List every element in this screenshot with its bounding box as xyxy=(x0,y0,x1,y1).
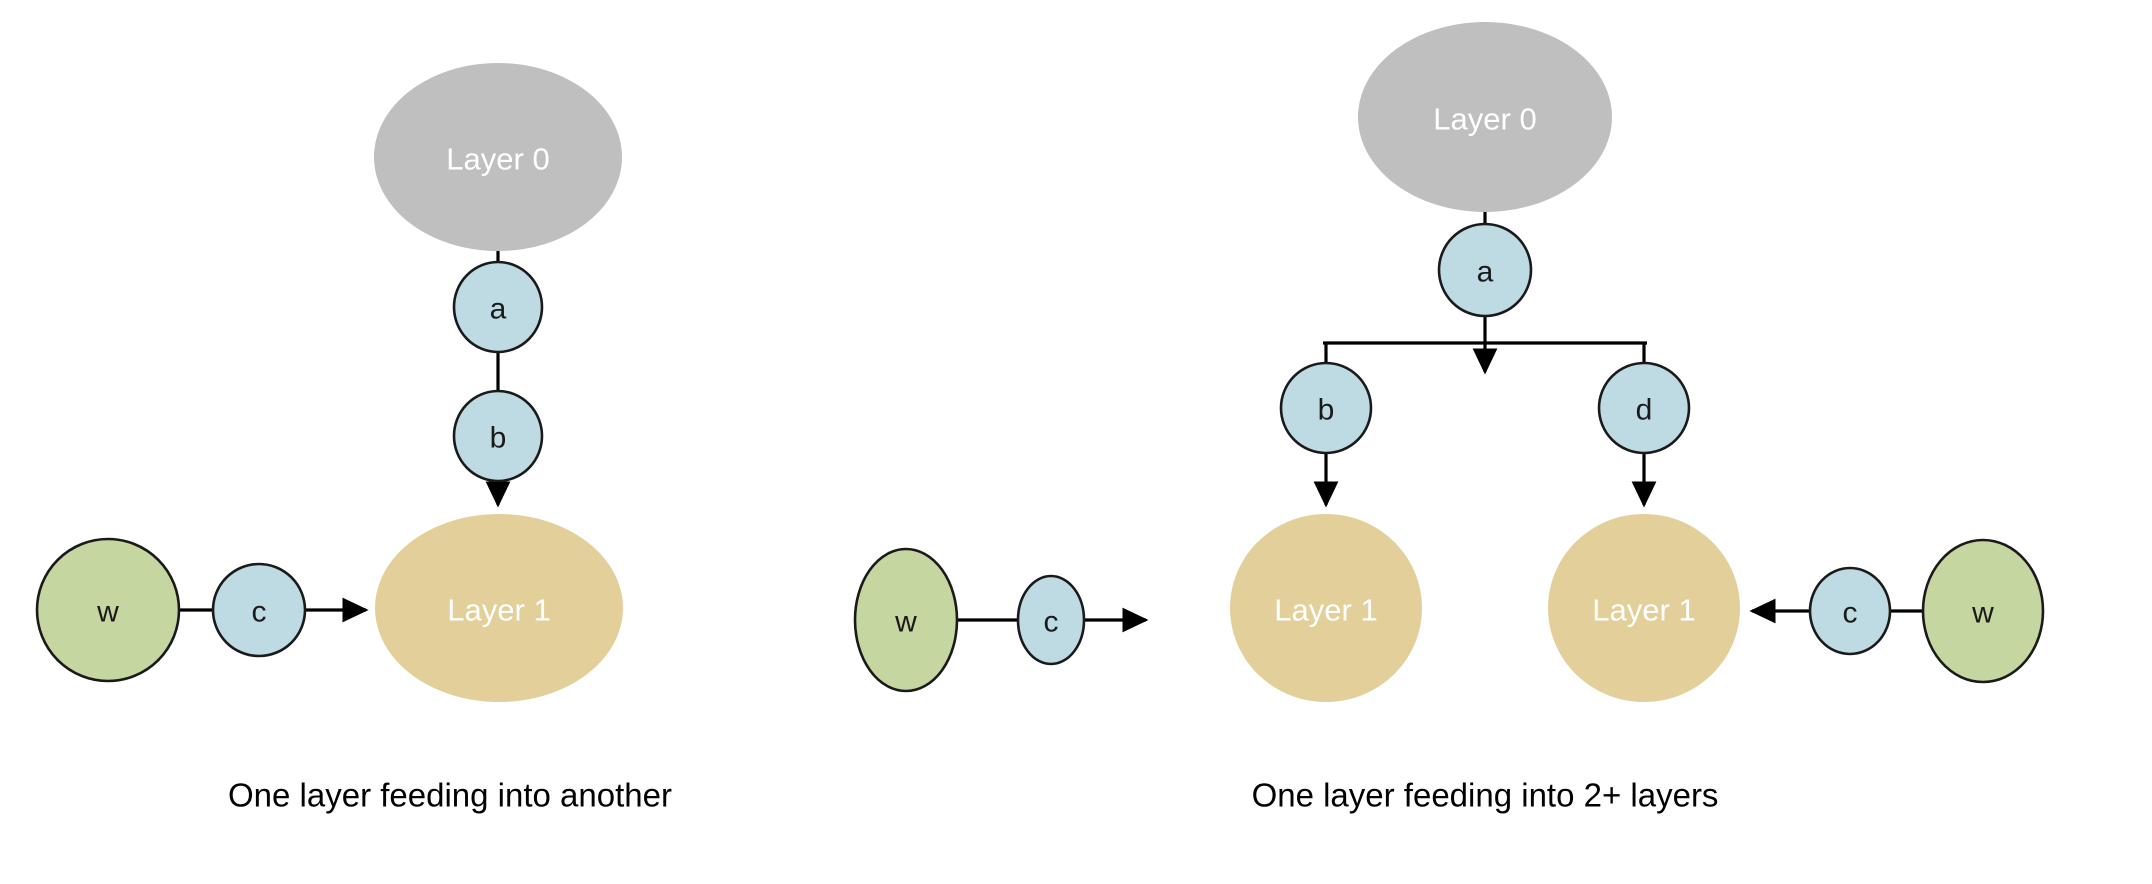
node-op-b[interactable]: b xyxy=(454,391,542,481)
node-op-c[interactable]: c xyxy=(213,564,305,656)
node-r-layer0[interactable]: Layer 0 xyxy=(1358,22,1612,212)
r-layer1-left-label: Layer 1 xyxy=(1274,593,1377,628)
node-layer0[interactable]: Layer 0 xyxy=(374,63,622,251)
op-a-label: a xyxy=(490,293,507,326)
r-weight-w-left-label: w xyxy=(894,606,917,639)
diagram-canvas: Layer 0 a b Layer 1 w xyxy=(0,0,2152,884)
op-c-label: c xyxy=(252,596,267,629)
r-layer1-right-label: Layer 1 xyxy=(1592,593,1695,628)
node-op-a[interactable]: a xyxy=(454,262,542,352)
node-r-layer1-left[interactable]: Layer 1 xyxy=(1230,514,1422,702)
r-layer0-label: Layer 0 xyxy=(1433,102,1536,137)
weight-w-label: w xyxy=(96,596,119,629)
right-panel: Layer 0 a b d Layer 1 Layer 1 xyxy=(855,22,2043,814)
r-op-a-label: a xyxy=(1477,256,1494,289)
node-r-op-a[interactable]: a xyxy=(1439,224,1531,316)
node-r-op-c-right[interactable]: c xyxy=(1810,568,1890,654)
node-r-layer1-right[interactable]: Layer 1 xyxy=(1548,514,1740,702)
op-b-label: b xyxy=(490,422,507,455)
left-panel: Layer 0 a b Layer 1 w xyxy=(37,63,672,814)
layer0-label: Layer 0 xyxy=(446,142,549,177)
r-op-c-right-label: c xyxy=(1843,597,1858,630)
r-op-d-label: d xyxy=(1636,394,1653,427)
r-weight-w-right-label: w xyxy=(1971,597,1994,630)
r-op-c-left-label: c xyxy=(1044,606,1059,639)
node-weight-w[interactable]: w xyxy=(37,539,179,681)
node-r-weight-w-left[interactable]: w xyxy=(855,549,957,691)
node-r-weight-w-right[interactable]: w xyxy=(1923,540,2043,682)
layer1-label: Layer 1 xyxy=(447,593,550,628)
left-panel-caption: One layer feeding into another xyxy=(228,777,672,814)
node-r-op-c-left[interactable]: c xyxy=(1018,576,1084,664)
node-r-op-d[interactable]: d xyxy=(1599,363,1689,453)
node-r-op-b[interactable]: b xyxy=(1281,363,1371,453)
node-layer1[interactable]: Layer 1 xyxy=(375,514,623,702)
layer-feeding-diagram: Layer 0 a b Layer 1 w xyxy=(0,0,2152,884)
right-panel-caption: One layer feeding into 2+ layers xyxy=(1252,777,1719,814)
r-op-b-label: b xyxy=(1318,394,1335,427)
